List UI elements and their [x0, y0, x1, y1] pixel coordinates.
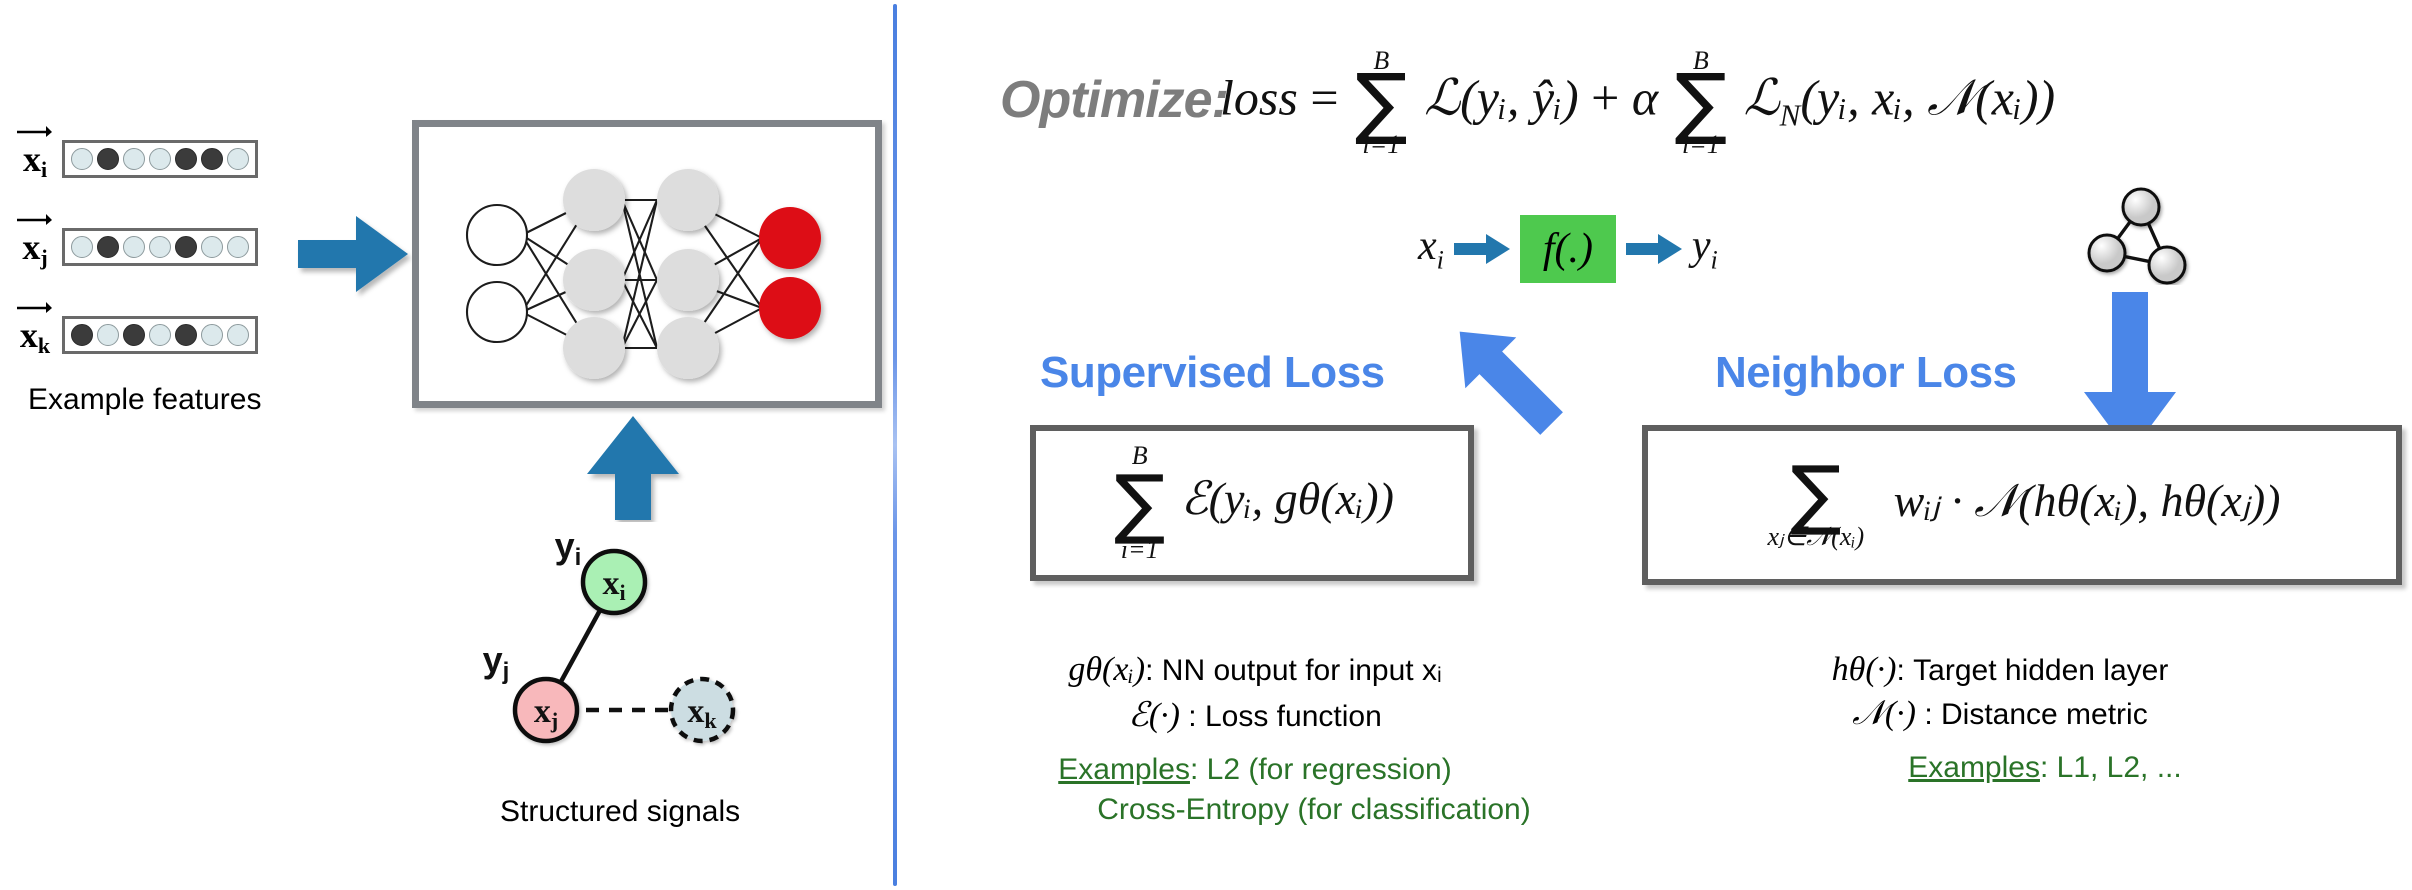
feature-vector-row: xi [8, 140, 258, 178]
loss-fn-args: (yᵢ, gθ(xᵢ)) [1209, 473, 1394, 524]
feature-cell [71, 324, 93, 346]
legend-text: : Distance metric [1916, 698, 2148, 731]
examples-label: Examples [1908, 751, 2040, 784]
sum-lower-limit: xⱼ∈𝒩(xᵢ) [1768, 524, 1865, 550]
neighbor-loss-subscript: N [1780, 98, 1801, 133]
feature-cell [71, 148, 93, 170]
pipeline-input-label: xi [1418, 222, 1444, 275]
pipeline-arrow-out-icon [1626, 232, 1682, 266]
feature-cell [227, 236, 249, 258]
neighbor-loss-formula: ∑ xⱼ∈𝒩(xᵢ) wᵢⱼ · 𝒩(hθ(xᵢ), hθ(xⱼ)) [1764, 460, 2281, 550]
legend-symbol: ℰ(·) [1128, 697, 1180, 734]
nn-input-node [467, 205, 527, 265]
structured-signals-caption: Structured signals [500, 795, 740, 829]
structured-signals-graph: xi xj xk yi yj [470, 520, 770, 760]
feature-vector-cells-j [62, 228, 258, 266]
graph-icon-node [2123, 189, 2159, 225]
feature-vector-label-sub: j [40, 245, 47, 270]
sigma-icon: ∑ [1675, 68, 1728, 138]
main-loss-equation: loss = B ∑ i=1 ℒ(yᵢ, ŷᵢ) + α B ∑ i=1 ℒN(… [1220, 48, 2055, 158]
legend-text: : Loss function [1180, 700, 1382, 733]
example-features-caption: Example features [28, 383, 261, 417]
nn-hidden-node [657, 249, 719, 311]
panel-divider [893, 4, 897, 886]
nn-hidden-node [657, 169, 719, 231]
neighbor-graph-icon [2075, 165, 2205, 285]
summation-supervised: B ∑ i=1 [1114, 443, 1165, 563]
alpha-symbol: α [1632, 70, 1658, 126]
neighbor-loss-symbol: ℒ [1744, 70, 1780, 126]
feature-vector-row: xk [8, 316, 258, 354]
loss-function-symbol: ℒ [1424, 70, 1460, 126]
nn-hidden-node [657, 317, 719, 379]
sum-lower-limit: i=1 [1682, 132, 1720, 158]
legend-text: : Target hidden layer [1897, 654, 2169, 687]
equation-equals: = [1310, 70, 1338, 126]
feature-cell [175, 236, 197, 258]
summation-1: B ∑ i=1 [1355, 48, 1408, 158]
neighbor-loss-box: ∑ xⱼ∈𝒩(xᵢ) wᵢⱼ · 𝒩(hθ(xᵢ), hθ(xⱼ)) [1642, 425, 2402, 585]
feature-cell [97, 148, 119, 170]
nn-output-node [759, 207, 821, 269]
feature-vector-label-base: x [23, 139, 41, 179]
equation-lhs: loss [1220, 70, 1298, 126]
sum-lower-limit: i=1 [1362, 132, 1400, 158]
vector-arrow-icon [16, 300, 52, 313]
feature-cell [149, 236, 171, 258]
examples-label: Examples [1058, 753, 1190, 786]
feature-cell [175, 324, 197, 346]
feature-cell [149, 148, 171, 170]
vector-arrow-icon [16, 212, 52, 225]
neighbor-formula-body: wᵢⱼ · 𝒩(hθ(xᵢ), hθ(xⱼ)) [1894, 475, 2281, 526]
summation-neighbor: ∑ xⱼ∈𝒩(xᵢ) [1768, 460, 1865, 550]
model-function-box[interactable]: f(.) [1520, 215, 1616, 283]
feature-cell [123, 148, 145, 170]
graph-icon-node [2149, 247, 2185, 283]
sigma-icon: ∑ [1790, 460, 1841, 528]
summation-2: B ∑ i=1 [1675, 48, 1728, 158]
legend-symbol: 𝒩(·) [1852, 695, 1916, 732]
feature-cell [227, 324, 249, 346]
loss-function-args: (yᵢ, ŷᵢ) [1460, 70, 1579, 126]
neural-network-diagram [412, 120, 882, 408]
feature-cell [71, 236, 93, 258]
feature-cell [123, 324, 145, 346]
feature-cell [97, 324, 119, 346]
feature-vector-cells-i [62, 140, 258, 178]
nn-input-node [467, 282, 527, 342]
pipeline-output-label: yi [1692, 222, 1718, 275]
feature-cell [175, 148, 197, 170]
feature-cell [227, 148, 249, 170]
feature-cell [97, 236, 119, 258]
graph-node-target-yj: yj [483, 639, 510, 685]
legend-line: hθ(·): Target hidden layer [1680, 651, 2320, 689]
examples-text: Cross-Entropy (for classification) [1097, 793, 1530, 826]
feature-cell [123, 236, 145, 258]
supervised-loss-heading: Supervised Loss [1040, 348, 1385, 398]
neighbor-loss-legend: hθ(·): Target hidden layer 𝒩(·) : Distan… [1680, 645, 2320, 791]
loss-fn-symbol: ℰ [1181, 473, 1209, 524]
features-to-nn-arrow-icon [288, 198, 418, 310]
nn-hidden-node [563, 317, 625, 379]
supervised-loss-formula: B ∑ i=1 ℰ(yᵢ, gθ(xᵢ)) [1110, 443, 1394, 563]
nn-hidden-node [563, 169, 625, 231]
nn-hidden-node [563, 249, 625, 311]
feature-vector-cells-k [62, 316, 258, 354]
model-pipeline: xi f(.) yi [1418, 215, 1718, 283]
feature-vector-label-i: xi [8, 141, 62, 177]
legend-line: 𝒩(·) : Distance metric [1680, 695, 2320, 733]
vector-arrow-icon [16, 124, 52, 137]
sum-lower-limit: i=1 [1121, 537, 1159, 563]
legend-line: gθ(xᵢ): NN output for input xᵢ [960, 651, 1550, 689]
feature-vector-label-sub: i [41, 157, 47, 182]
neighbor-loss-args: (yᵢ, xᵢ, 𝒩(xᵢ)) [1800, 70, 2055, 126]
feature-cell [201, 236, 223, 258]
feature-cell [149, 324, 171, 346]
sigma-icon: ∑ [1355, 68, 1408, 138]
graph-icon-node [2089, 235, 2125, 271]
legend-text: : NN output for input xᵢ [1145, 654, 1442, 687]
equation-plus: + [1591, 70, 1619, 126]
legend-examples-line: Cross-Entropy (for classification) [960, 793, 1550, 827]
neighbor-loss-heading: Neighbor Loss [1715, 348, 2017, 398]
feature-cell [201, 148, 223, 170]
feature-vector-label-base: x [20, 315, 38, 355]
feature-vector-label-j: xj [8, 229, 62, 265]
feature-vector-row: xj [8, 228, 258, 266]
legend-line: ℰ(·) : Loss function [960, 695, 1550, 735]
optimize-label: Optimize: [1000, 70, 1228, 130]
feature-vector-label-sub: k [38, 333, 50, 358]
legend-examples-line: Examples: L1, L2, ... [1680, 751, 2320, 785]
nn-output-node [759, 277, 821, 339]
graph-node-target-yi: yi [555, 525, 582, 571]
signals-to-nn-arrow-icon [575, 412, 695, 522]
supervised-loss-legend: gθ(xᵢ): NN output for input xᵢ ℰ(·) : Lo… [960, 645, 1550, 833]
legend-symbol: gθ(xᵢ) [1068, 651, 1145, 688]
feature-cell [201, 324, 223, 346]
pipeline-arrow-in-icon [1454, 232, 1510, 266]
legend-symbol: hθ(·) [1832, 651, 1897, 688]
supervised-loss-box: B ∑ i=1 ℰ(yᵢ, gθ(xᵢ)) [1030, 425, 1474, 581]
legend-examples-line: Examples: L2 (for regression) [960, 753, 1550, 787]
examples-text: : L2 (for regression) [1190, 753, 1452, 786]
examples-text: : L1, L2, ... [2040, 751, 2182, 784]
sigma-icon: ∑ [1114, 469, 1165, 537]
feature-vector-label-base: x [22, 227, 40, 267]
feature-vector-label-k: xk [8, 317, 62, 353]
